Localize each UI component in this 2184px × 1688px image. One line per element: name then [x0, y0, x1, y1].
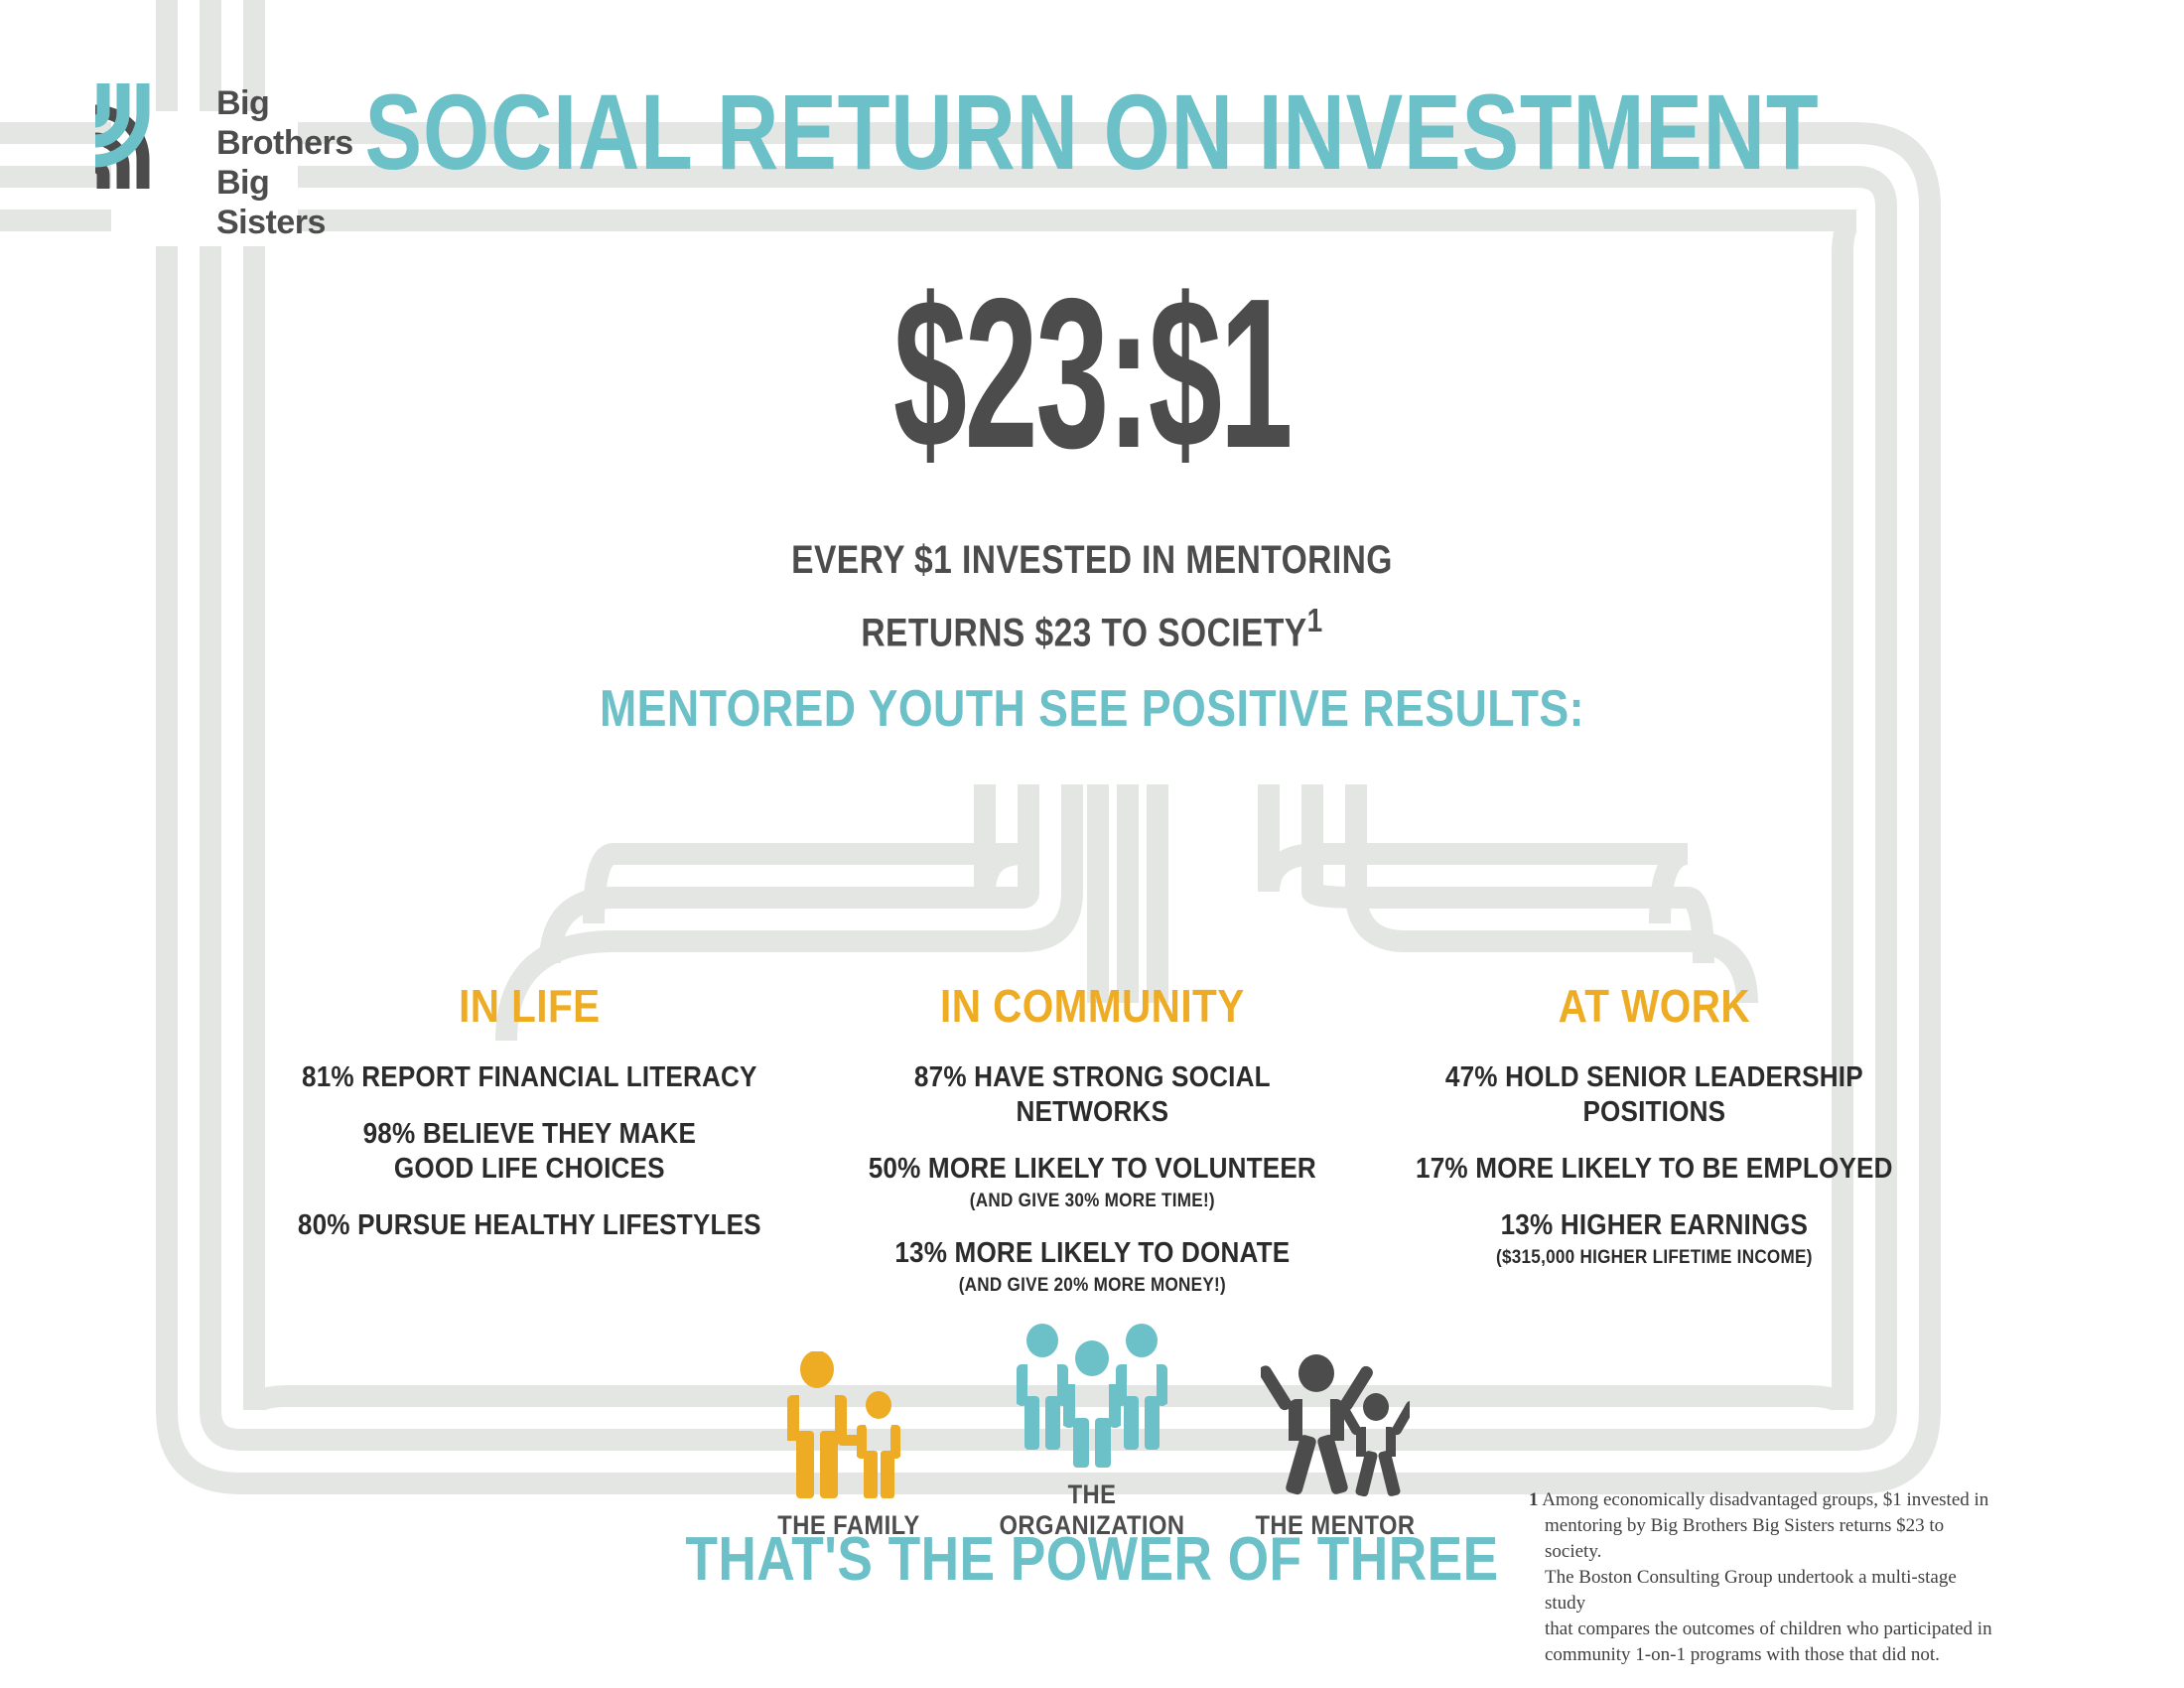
fact-note: (AND GIVE 20% MORE MONEY!) — [839, 1273, 1345, 1299]
fact-item: 13% MORE LIKELY TO DONATE (AND GIVE 20% … — [839, 1236, 1345, 1299]
column-title: IN LIFE — [282, 981, 777, 1031]
power-item-family: THE FAMILY — [735, 1351, 963, 1541]
hero-subtitle-line2: RETURNS $23 TO SOCIETY1 — [175, 591, 2009, 663]
results-column-in-community: IN COMMUNITY 87% HAVE STRONG SOCIAL NETW… — [811, 981, 1374, 1321]
fact-text: 50% MORE LIKELY TO VOLUNTEER — [868, 1153, 1315, 1185]
fact-item: 17% MORE LIKELY TO BE EMPLOYED — [1402, 1152, 1908, 1187]
fact-item: 81% REPORT FINANCIAL LITERACY — [276, 1060, 782, 1095]
hero-subtitle: EVERY $1 INVESTED IN MENTORING RETURNS $… — [175, 529, 2009, 663]
results-column-at-work: AT WORK 47% HOLD SENIOR LEADERSHIP POSIT… — [1373, 981, 1936, 1321]
footnote-line: that compares the outcomes of children w… — [1529, 1617, 1995, 1642]
fact-item: 87% HAVE STRONG SOCIAL NETWORKS — [839, 1060, 1345, 1130]
fact-note: (AND GIVE 30% MORE TIME!) — [839, 1189, 1345, 1214]
results-heading: MENTORED YOUTH SEE POSITIVE RESULTS: — [153, 681, 2031, 737]
organization-three-people-icon — [978, 1321, 1206, 1470]
footnote-number: 1 — [1529, 1489, 1539, 1510]
column-title: AT WORK — [1407, 981, 1902, 1031]
results-column-in-life: IN LIFE 81% REPORT FINANCIAL LITERACY 98… — [248, 981, 811, 1321]
footnote-line: community 1-on-1 programs with those tha… — [1529, 1642, 1995, 1668]
fact-text: 17% MORE LIKELY TO BE EMPLOYED — [1416, 1153, 1893, 1185]
fact-text: 98% BELIEVE THEY MAKEGOOD LIFE CHOICES — [363, 1118, 696, 1185]
footnote-line-text: Among economically disadvantaged groups,… — [1542, 1489, 1988, 1510]
footnote-line: 1 Among economically disadvantaged group… — [1529, 1487, 1995, 1513]
power-item-organization: THE ORGANIZATION — [978, 1321, 1206, 1541]
fact-text: 80% PURSUE HEALTHY LIFESTYLES — [298, 1209, 761, 1241]
infographic-canvas: Big Brothers Big Sisters SOCIAL RETURN O… — [0, 0, 2184, 1688]
hero-subtitle-line2-text: RETURNS $23 TO SOCIETY — [861, 611, 1306, 654]
family-adult-child-icon — [735, 1351, 963, 1500]
fact-text: 87% HAVE STRONG SOCIAL NETWORKS — [914, 1061, 1271, 1128]
fact-item: 47% HOLD SENIOR LEADERSHIP POSITIONS — [1402, 1060, 1908, 1130]
footnote-line: mentoring by Big Brothers Big Sisters re… — [1529, 1513, 1995, 1565]
results-columns: IN LIFE 81% REPORT FINANCIAL LITERACY 98… — [248, 981, 1936, 1321]
fact-text: 47% HOLD SENIOR LEADERSHIP POSITIONS — [1445, 1061, 1863, 1128]
power-item-mentor: THE MENTOR — [1221, 1351, 1449, 1541]
hero-ratio: $23:$1 — [415, 266, 1769, 480]
bbbs-arcs-logo-icon — [87, 77, 208, 195]
fact-text: 13% MORE LIKELY TO DONATE — [894, 1237, 1290, 1269]
power-of-three-tagline: THAT'S THE POWER OF THREE — [682, 1527, 1502, 1593]
page-title: SOCIAL RETURN ON INVESTMENT — [218, 77, 1966, 187]
column-title: IN COMMUNITY — [845, 981, 1340, 1031]
column-facts: 81% REPORT FINANCIAL LITERACY 98% BELIEV… — [248, 1060, 811, 1243]
fact-text: 13% HIGHER EARNINGS — [1501, 1209, 1808, 1241]
footnote-line: The Boston Consulting Group undertook a … — [1529, 1565, 1995, 1617]
fact-item: 98% BELIEVE THEY MAKEGOOD LIFE CHOICES — [276, 1117, 782, 1187]
footnote: 1 Among economically disadvantaged group… — [1529, 1487, 1995, 1668]
fact-item: 13% HIGHER EARNINGS ($315,000 HIGHER LIF… — [1402, 1208, 1908, 1271]
hero-subtitle-line1: EVERY $1 INVESTED IN MENTORING — [175, 529, 2009, 591]
column-facts: 87% HAVE STRONG SOCIAL NETWORKS 50% MORE… — [811, 1060, 1374, 1299]
power-of-three-icons: THE FAMILY — [735, 1321, 1449, 1541]
footnote-marker: 1 — [1307, 603, 1323, 639]
column-facts: 47% HOLD SENIOR LEADERSHIP POSITIONS 17%… — [1373, 1060, 1936, 1271]
fact-note: ($315,000 HIGHER LIFETIME INCOME) — [1402, 1245, 1908, 1271]
mentor-celebrating-pair-icon — [1221, 1351, 1449, 1500]
fact-text: 81% REPORT FINANCIAL LITERACY — [302, 1061, 757, 1093]
fact-item: 80% PURSUE HEALTHY LIFESTYLES — [276, 1208, 782, 1243]
fact-item: 50% MORE LIKELY TO VOLUNTEER (AND GIVE 3… — [839, 1152, 1345, 1214]
